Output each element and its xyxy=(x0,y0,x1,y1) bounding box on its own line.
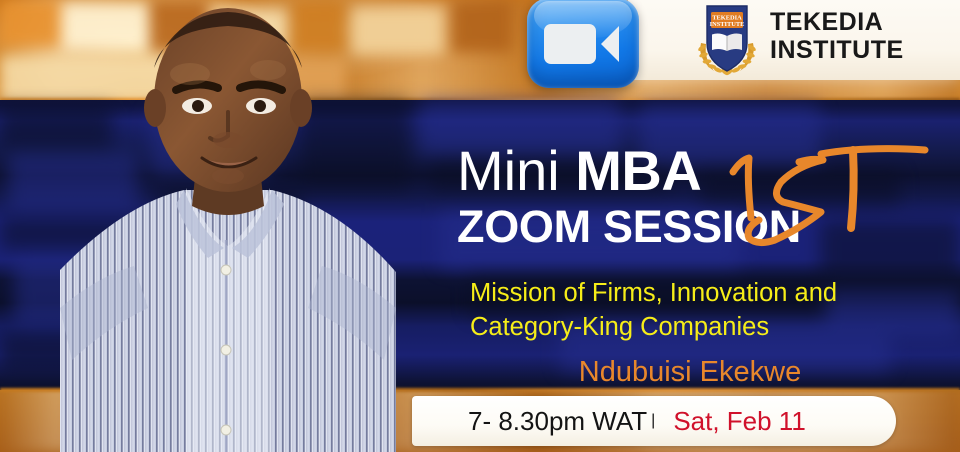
tekedia-wordmark: TEKEDIA INSTITUTE xyxy=(770,8,904,64)
headline-mini: Mini xyxy=(457,139,560,202)
tekedia-crest-logo: TEKEDIA INSTITUTE xyxy=(694,3,760,77)
headline-mba: MBA xyxy=(575,139,701,202)
session-topic-line2: Category-King Companies xyxy=(470,311,930,345)
schedule-pill: 7- 8.30pm WAT | Sat, Feb 11 xyxy=(412,396,896,446)
schedule-time: 7- 8.30pm WAT xyxy=(468,406,647,437)
speaker-portrait xyxy=(58,8,398,452)
session-topic-line1: Mission of Firms, Innovation and xyxy=(470,277,930,311)
session-topic: Mission of Firms, Innovation and Categor… xyxy=(470,277,930,344)
speaker-name: Ndubuisi Ekekwe xyxy=(470,356,910,389)
headline-block: Mini MBA ZOOM SESSION xyxy=(457,142,927,253)
crest-banner-line2: INSTITUTE xyxy=(710,21,745,28)
camera-glyph xyxy=(544,22,622,66)
event-promo-banner: TEKEDIA INSTITUTE TEKEDIA INSTITUTE xyxy=(0,0,960,452)
open-book-icon xyxy=(712,34,742,51)
schedule-date: Sat, Feb 11 xyxy=(673,406,806,437)
headline-line1: Mini MBA xyxy=(457,142,927,199)
video-camera-icon xyxy=(527,0,639,88)
headline-line2: ZOOM SESSION xyxy=(457,201,927,253)
wordmark-line1: TEKEDIA xyxy=(770,8,904,36)
wordmark-line2: INSTITUTE xyxy=(770,36,904,64)
schedule-separator: | xyxy=(651,412,655,430)
